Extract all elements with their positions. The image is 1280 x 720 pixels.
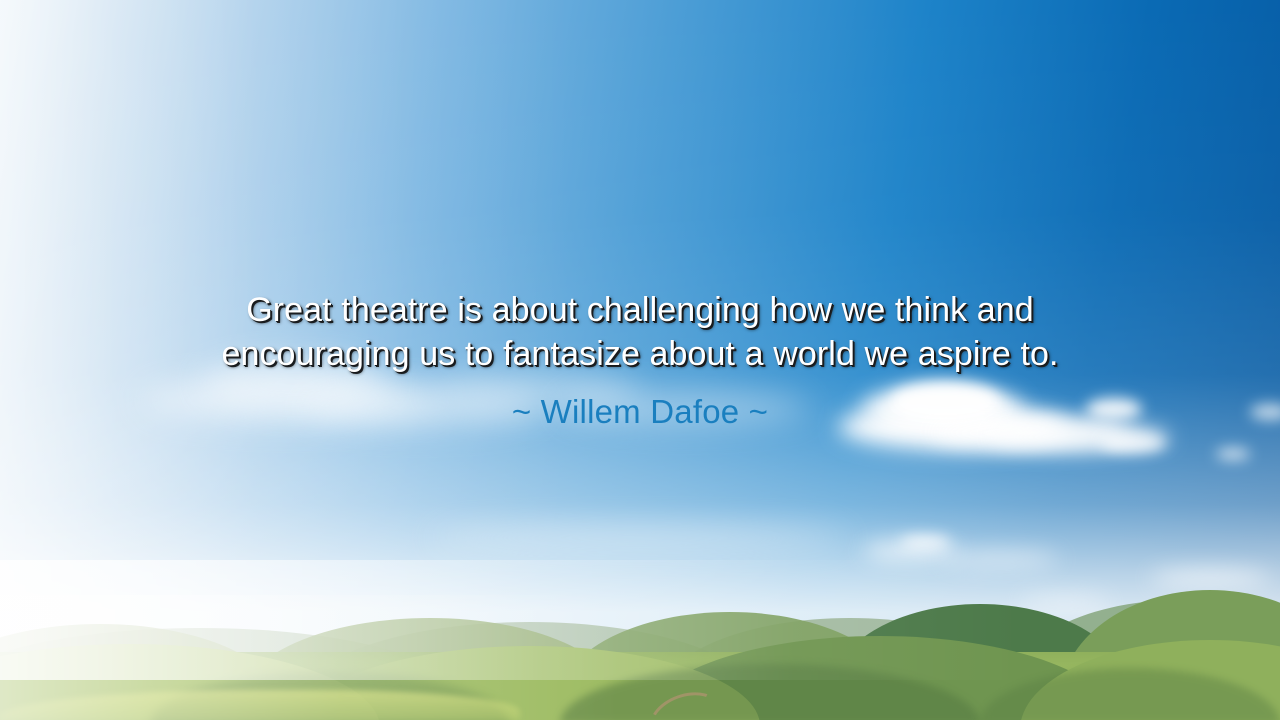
quote-block: Great theatre is about challenging how w… — [0, 288, 1280, 432]
quote-author: ~ Willem Dafoe ~ — [0, 392, 1280, 432]
quote-text: Great theatre is about challenging how w… — [0, 288, 1280, 376]
quote-card: Great theatre is about challenging how w… — [0, 0, 1280, 720]
